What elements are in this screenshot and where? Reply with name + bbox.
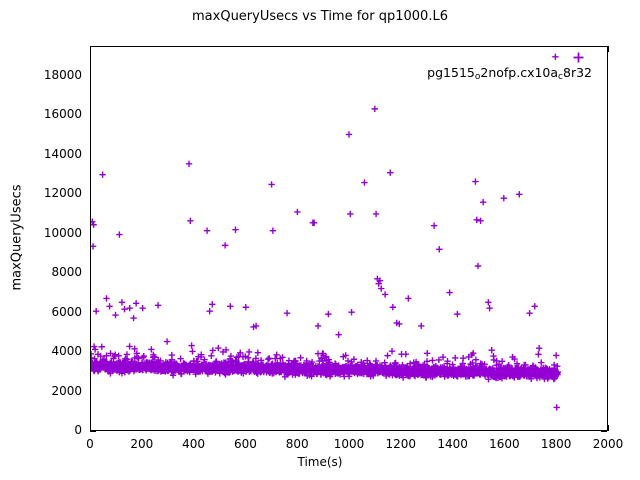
y-tick-mark-right [601,431,607,432]
y-tick-label: 10000 [22,226,82,240]
x-axis-title: Time(s) [0,455,640,469]
x-tick-label: 2000 [578,437,638,451]
legend-entry-label: pg1515o2nofp.cx10ac8r32 [427,65,592,80]
chart-page: maxQueryUsecs vs Time for qp1000.L6 maxQ… [0,0,640,480]
plot-area [90,46,608,431]
y-tick-label: 14000 [22,147,82,161]
chart-title: maxQueryUsecs vs Time for qp1000.L6 [0,9,640,24]
y-tick-label: 4000 [22,344,82,358]
x-tick-mark-top [608,46,609,52]
y-tick-label: 2000 [22,384,82,398]
y-tick-label: 12000 [22,186,82,200]
y-tick-label: 18000 [22,68,82,82]
y-tick-label: 8000 [22,265,82,279]
x-tick-mark [608,425,609,431]
y-tick-label: 6000 [22,305,82,319]
y-tick-label: 16000 [22,107,82,121]
y-tick-label: 0 [22,423,82,437]
scatter-plot-canvas [91,47,607,430]
legend: pg1515o2nofp.cx10ac8r32 [330,50,592,70]
legend-marker-plus-icon [572,51,585,64]
y-tick-mark [90,431,96,432]
